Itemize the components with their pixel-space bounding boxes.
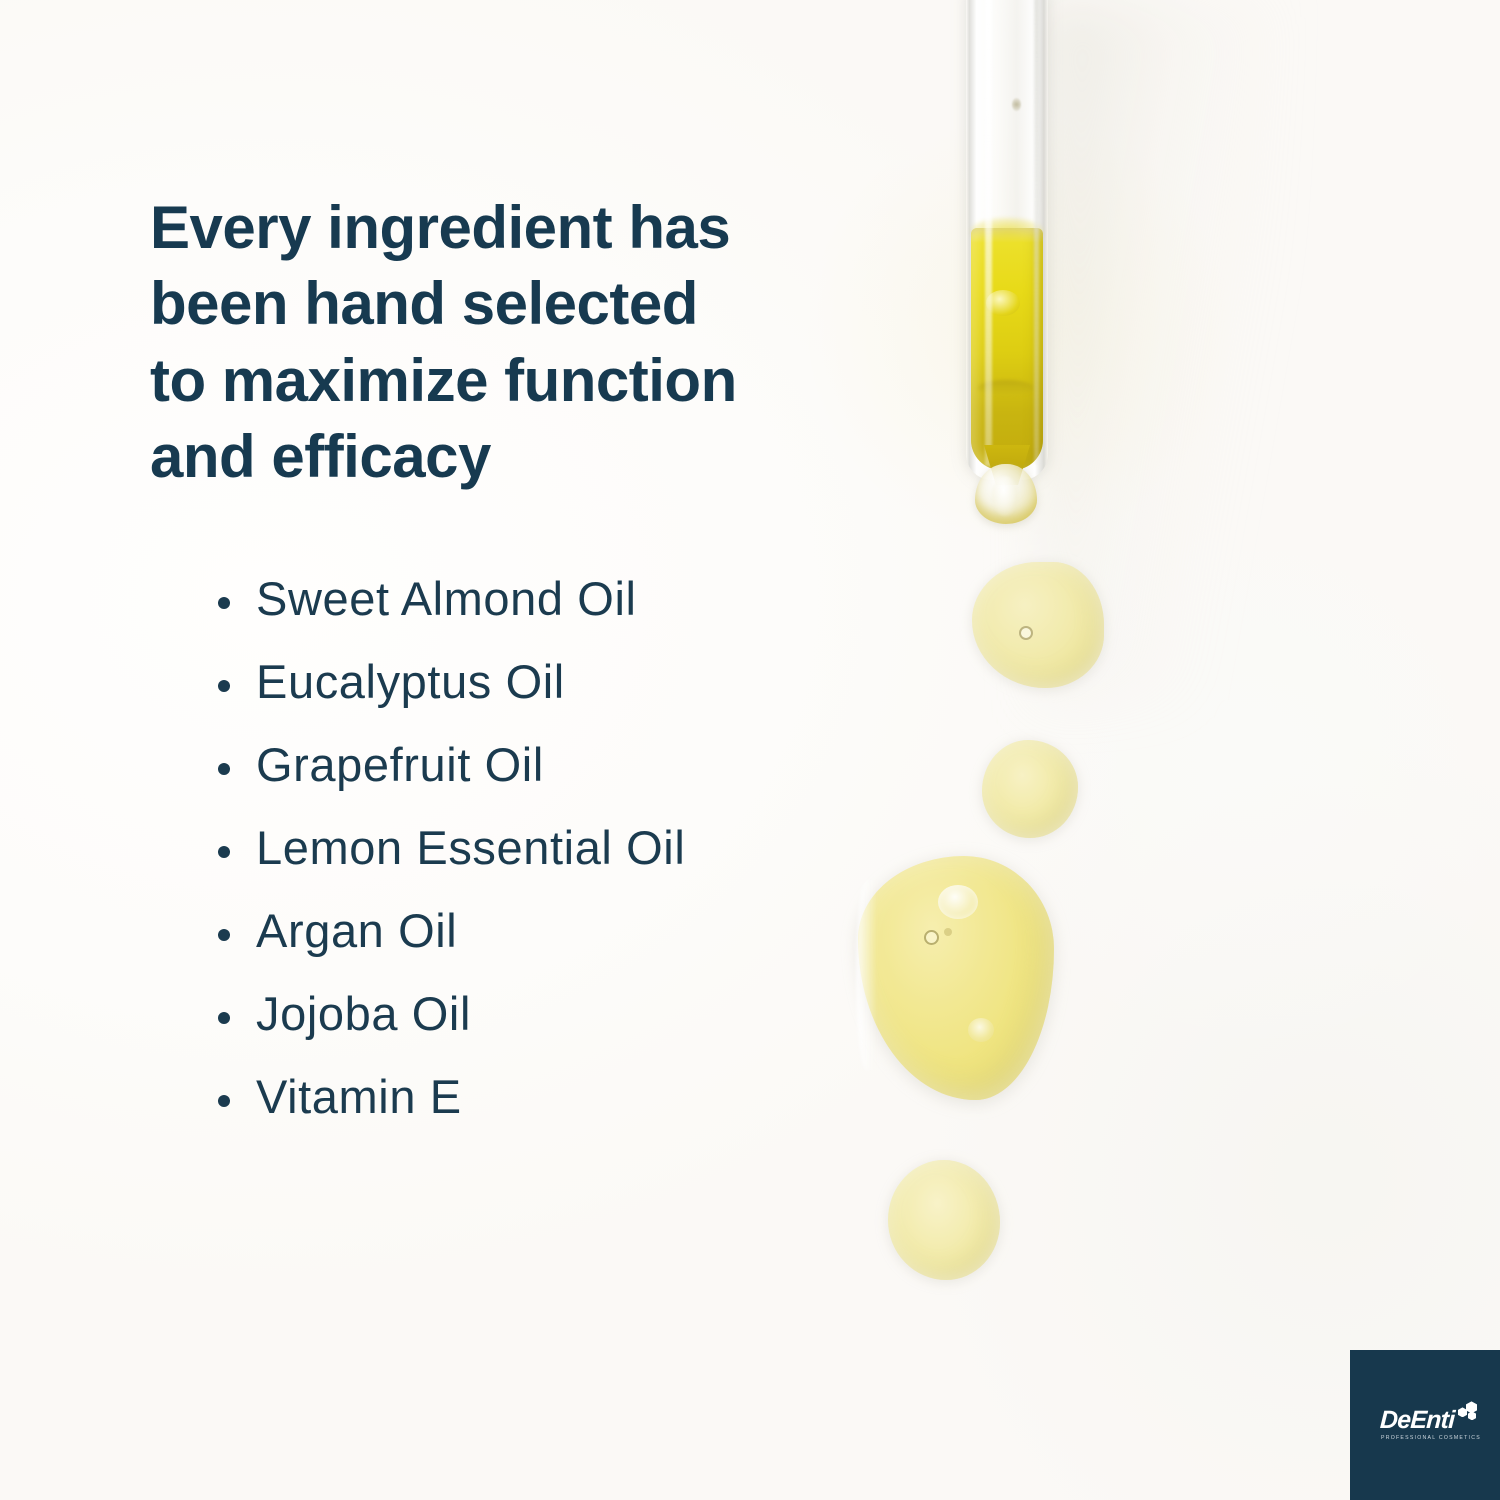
- pipette-droplet-highlight: [992, 476, 1018, 516]
- bullet-dot-icon: [218, 1012, 230, 1024]
- bullet-dot-icon: [218, 763, 230, 775]
- bullet-dot-icon: [218, 846, 230, 858]
- bullet-dot-icon: [218, 680, 230, 692]
- list-item: Jojoba Oil: [208, 981, 848, 1047]
- list-item: Vitamin E: [208, 1064, 848, 1130]
- ingredient-label: Lemon Essential Oil: [256, 821, 685, 874]
- brand-logo-badge: DeEnti PROFESSIONAL COSMETICS: [1350, 1350, 1500, 1500]
- ingredient-list: Sweet Almond Oil Eucalyptus Oil Grapefru…: [208, 566, 848, 1147]
- ingredient-label: Grapefruit Oil: [256, 738, 544, 791]
- ingredient-label: Vitamin E: [256, 1070, 462, 1123]
- list-item: Lemon Essential Oil: [208, 815, 848, 881]
- ingredient-label: Eucalyptus Oil: [256, 655, 565, 708]
- page-title: Every ingredient has been hand selected …: [150, 190, 850, 495]
- oil-pool-large-kidney: [858, 856, 1054, 1100]
- pipette-glass-highlight: [985, 0, 992, 466]
- ingredient-label: Jojoba Oil: [256, 987, 471, 1040]
- bullet-dot-icon: [218, 597, 230, 609]
- ingredient-label: Argan Oil: [256, 904, 457, 957]
- pipette-speck: [1012, 98, 1021, 111]
- brand-name: DeEnti: [1379, 1408, 1476, 1433]
- brand-lockup: DeEnti PROFESSIONAL COSMETICS: [1374, 1408, 1476, 1441]
- oil-pool-upper-irregular: [972, 562, 1104, 688]
- ingredient-label: Sweet Almond Oil: [256, 572, 637, 625]
- oil-pool-bottom-round: [888, 1160, 1000, 1280]
- list-item: Eucalyptus Oil: [208, 649, 848, 715]
- glass-pipette-dropper-image: [958, 0, 1056, 540]
- oil-pool-small-round: [982, 740, 1078, 838]
- bullet-dot-icon: [218, 1095, 230, 1107]
- oil-pool-edge-highlight: [856, 880, 876, 1070]
- list-item: Argan Oil: [208, 898, 848, 964]
- list-item: Grapefruit Oil: [208, 732, 848, 798]
- ingredient-promo-poster: Every ingredient has been hand selected …: [0, 0, 1500, 1500]
- bullet-dot-icon: [218, 929, 230, 941]
- pipette-glass-edge: [1034, 0, 1039, 464]
- brand-tagline: PROFESSIONAL COSMETICS: [1380, 1436, 1476, 1441]
- list-item: Sweet Almond Oil: [208, 566, 848, 632]
- pipette-oil-column: [971, 228, 1043, 470]
